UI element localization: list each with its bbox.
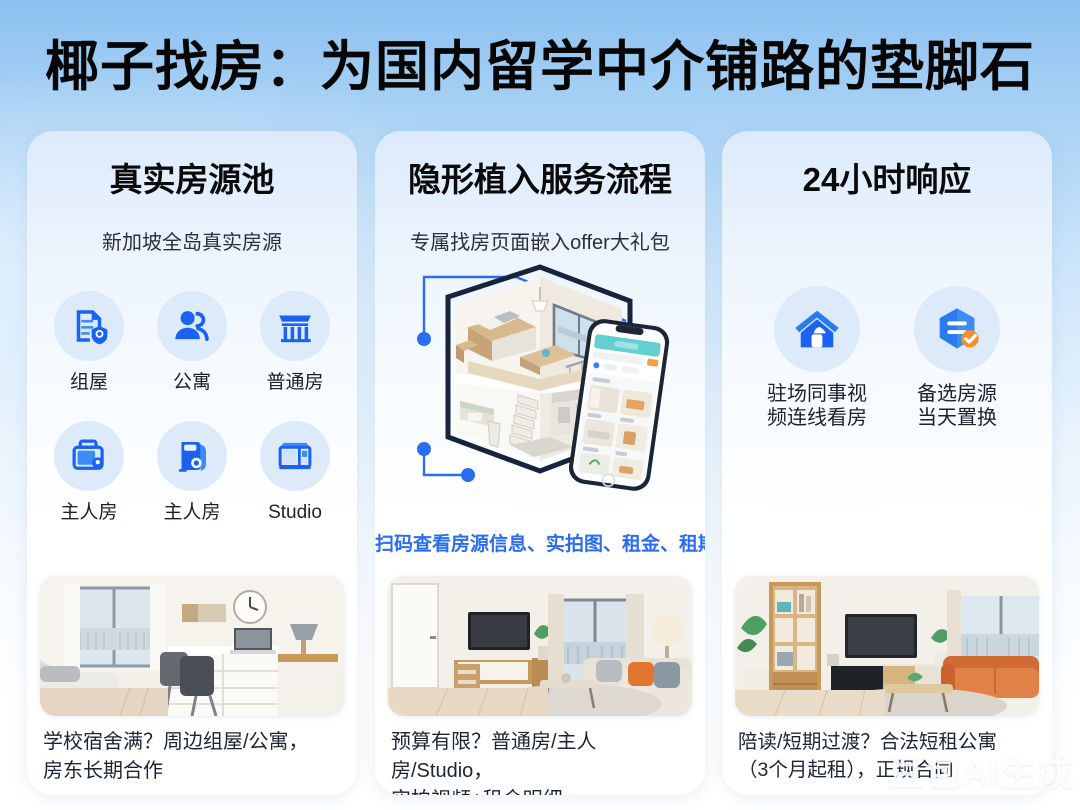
- page-title: 椰子找房：为国内留学中介铺路的垫脚石: [0, 22, 1080, 101]
- icon-label: 公寓: [173, 372, 211, 394]
- card-title: 隐形植入服务流程: [375, 153, 705, 201]
- scan-qr-caption: 扫码查看房源信息、实拍图、租金、租期: [375, 529, 705, 556]
- document-verified-icon: [54, 291, 124, 361]
- window-layout-icon: [260, 421, 330, 491]
- icon-item-normal-room[interactable]: 普通房: [244, 291, 347, 394]
- icon-label: 备选房源 当天置换: [917, 383, 997, 430]
- icon-item-master-room-b[interactable]: 主人房: [141, 421, 244, 524]
- icon-label: 主人房: [60, 502, 117, 524]
- icon-item-backup-listing[interactable]: 备选房源 当天置换: [887, 286, 1027, 430]
- card-caption: 陪读/短期过渡？合法短租公寓 （3个月起租），正规合同: [738, 728, 1038, 785]
- feature-card-real-listings[interactable]: 真实房源池 新加坡全岛真实房源: [27, 131, 357, 795]
- card-caption: 预算有限？普通房/主人房/Studio， 实拍视频+租金明细: [391, 728, 691, 795]
- shield-document-check-icon: [914, 286, 1000, 372]
- card-subtitle: 专属找房页面嵌入offer大礼包: [375, 226, 705, 255]
- icon-label: 普通房: [266, 372, 323, 394]
- icon-label: Studio: [268, 502, 322, 524]
- icon-grid-row-2: 主人房 主人房: [27, 421, 357, 524]
- card-title: 24小时响应: [722, 153, 1052, 201]
- icon-item-condo[interactable]: 公寓: [141, 291, 244, 394]
- bedroom-study-photo: [40, 576, 344, 716]
- card-subtitle: 新加坡全岛真实房源: [27, 226, 357, 255]
- icon-item-onsite-video[interactable]: 驻场同事视 频连线看房: [747, 286, 887, 430]
- icon-label: 主人房: [163, 502, 220, 524]
- isometric-house-cutaway-with-phone: [375, 261, 705, 526]
- icon-grid-row-1: 驻场同事视 频连线看房 备选房源 当天置换: [722, 286, 1052, 430]
- card-caption: 学校宿舍满？周边组屋/公寓， 房东长期合作: [43, 728, 343, 786]
- feature-cards-container: 真实房源池 新加坡全岛真实房源: [0, 131, 1080, 799]
- icon-item-master-room-a[interactable]: 主人房: [38, 421, 141, 524]
- people-icon: [157, 291, 227, 361]
- wallet-tag-icon: [54, 421, 124, 491]
- living-room-bookshelf-photo: [735, 576, 1039, 716]
- book-icon: [157, 421, 227, 491]
- building-icon: [260, 291, 330, 361]
- feature-card-24h-response[interactable]: 24小时响应 驻场同事视 频连线看房: [722, 131, 1052, 795]
- card-title: 真实房源池: [27, 153, 357, 201]
- icon-item-studio[interactable]: Studio: [244, 421, 347, 524]
- icon-label: 组屋: [70, 372, 108, 394]
- icon-grid-row-1: 组屋 公寓: [27, 291, 357, 394]
- icon-item-hdb[interactable]: 组屋: [38, 291, 141, 394]
- icon-label: 驻场同事视 频连线看房: [767, 383, 867, 430]
- house-icon: [774, 286, 860, 372]
- living-room-tv-photo: [388, 576, 692, 716]
- feature-card-embedded-service[interactable]: 隐形植入服务流程 专属找房页面嵌入offer大礼包: [375, 131, 705, 795]
